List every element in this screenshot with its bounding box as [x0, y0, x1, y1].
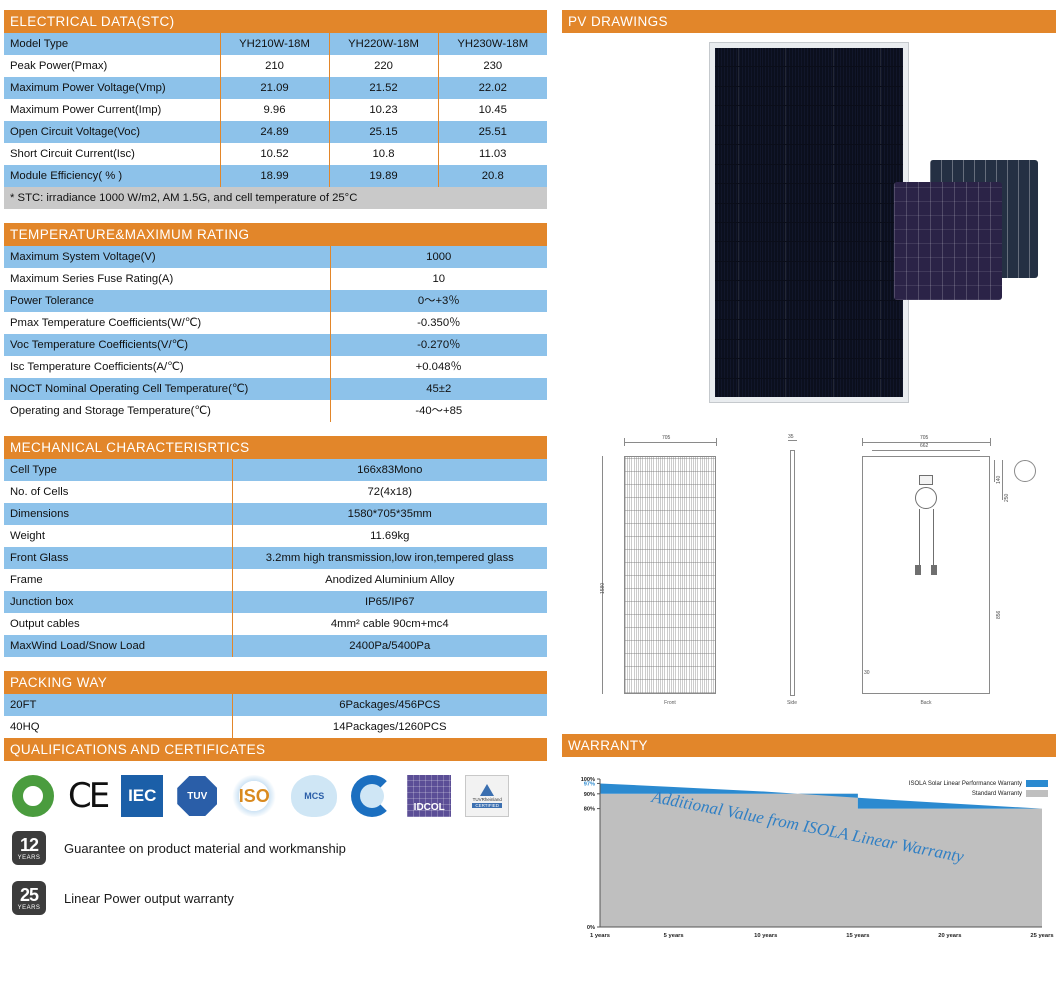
table-row: Maximum Power Current(Imp) 9.96 10.23 10…	[4, 99, 547, 121]
row-value: 21.52	[329, 77, 438, 99]
solar-cell	[810, 242, 856, 260]
row-value: 20.8	[438, 165, 547, 187]
row-value: 18.99	[220, 165, 329, 187]
solar-cell	[762, 223, 808, 241]
dim-thickness: 35	[788, 434, 794, 440]
solar-cell	[810, 262, 856, 280]
table-row: Output cables 4mm² cable 90cm+mc4	[4, 613, 547, 635]
row-label: Maximum Power Voltage(Vmp)	[4, 77, 220, 99]
table-row: 40HQ 14Packages/1260PCS	[4, 716, 547, 738]
row-value: 3.2mm high transmission,low iron,tempere…	[232, 547, 547, 569]
solar-cell	[762, 320, 808, 338]
dim-height: 1580	[600, 583, 606, 594]
solar-cell	[762, 106, 808, 124]
idcol-certificate-icon: IDCOL	[407, 775, 451, 817]
dim-front-width: 705	[662, 435, 670, 441]
solar-cell	[857, 67, 903, 85]
warranty-badge-row-25: 25 YEARS Linear Power output warranty	[4, 873, 547, 923]
solar-cell	[715, 223, 761, 241]
solar-cell	[857, 48, 903, 66]
solar-cell	[762, 262, 808, 280]
temperature-rating-table: Maximum System Voltage(V) 1000 Maximum S…	[4, 246, 547, 422]
solar-cell	[810, 126, 856, 144]
pv-drawings-header: PV DRAWINGS	[562, 10, 1056, 33]
svg-text:10 years: 10 years	[754, 933, 777, 939]
solar-cell	[857, 379, 903, 397]
row-label: Module Efficiency( % )	[4, 165, 220, 187]
iec-certificate-icon: IEC	[121, 775, 163, 817]
drawing-front-view	[624, 456, 716, 694]
row-value: 24.89	[220, 121, 329, 143]
solar-cell	[810, 204, 856, 222]
row-value: 25.51	[438, 121, 547, 143]
legend-label: Standard Warranty	[972, 791, 1022, 797]
row-value: 1580*705*35mm	[232, 503, 547, 525]
solar-cell	[715, 204, 761, 222]
warranty-header: WARRANTY	[562, 734, 1056, 757]
row-value: 4mm² cable 90cm+mc4	[232, 613, 547, 635]
row-value: 11.69kg	[232, 525, 547, 547]
row-value: 210	[220, 55, 329, 77]
legend-label: ISOLA Solar Linear Performance Warranty	[909, 781, 1022, 787]
table-row: Peak Power(Pmax) 210 220 230	[4, 55, 547, 77]
solar-cell	[715, 242, 761, 260]
packing-way-block: PACKING WAY 20FT 6Packages/456PCS 40HQ 1…	[4, 671, 547, 738]
solar-cell	[762, 184, 808, 202]
table-row: Short Circuit Current(Isc) 10.52 10.8 11…	[4, 143, 547, 165]
row-label: 40HQ	[4, 716, 232, 738]
column-header-model-2: YH220W-18M	[329, 33, 438, 55]
row-label: Operating and Storage Temperature(℃)	[4, 400, 330, 422]
datasheet-page: ELECTRICAL DATA(STC) Model Type YH210W-1…	[0, 0, 1060, 999]
solar-cell	[810, 67, 856, 85]
svg-text:20 years: 20 years	[938, 933, 961, 939]
svg-text:90%: 90%	[584, 792, 595, 798]
row-value: 10.23	[329, 99, 438, 121]
warranty-12-years-text: Guarantee on product material and workma…	[64, 841, 346, 856]
packing-way-table: 20FT 6Packages/456PCS 40HQ 14Packages/12…	[4, 694, 547, 738]
table-row: Weight 11.69kg	[4, 525, 547, 547]
row-value: 6Packages/456PCS	[232, 694, 547, 716]
row-value: 1000	[330, 246, 547, 268]
row-value: 10.45	[438, 99, 547, 121]
electrical-data-table: Model Type YH210W-18M YH220W-18M YH230W-…	[4, 33, 547, 187]
temperature-rating-header: TEMPERATURE&MAXIMUM RATING	[4, 223, 547, 246]
solar-cell	[715, 320, 761, 338]
badge-years: 25	[20, 886, 38, 904]
legend-swatch	[1026, 790, 1048, 797]
table-row: 20FT 6Packages/456PCS	[4, 694, 547, 716]
drawing-back-view	[862, 456, 990, 694]
solar-cell	[810, 48, 856, 66]
mechanical-characteristics-table: Cell Type 166x83Mono No. of Cells 72(4x1…	[4, 459, 547, 657]
panel-cell-grid	[715, 48, 903, 397]
drawing-junction-box	[919, 475, 933, 485]
iso-certificate-icon: ISO	[231, 775, 277, 817]
row-label: Open Circuit Voltage(Voc)	[4, 121, 220, 143]
solar-cell	[762, 301, 808, 319]
row-value: 10.8	[329, 143, 438, 165]
warranty-25-years-text: Linear Power output warranty	[64, 891, 234, 906]
warranty-badge-row-12: 12 YEARS Guarantee on product material a…	[4, 823, 547, 873]
solar-cell	[715, 281, 761, 299]
table-row: Cell Type 166x83Mono	[4, 459, 547, 481]
solar-cell	[715, 359, 761, 377]
table-row: Model Type YH210W-18M YH220W-18M YH230W-…	[4, 33, 547, 55]
row-label: Front Glass	[4, 547, 232, 569]
svg-text:80%: 80%	[584, 807, 595, 813]
solar-cell	[715, 184, 761, 202]
green-ring-certificate-icon	[12, 775, 54, 817]
column-header-model-type: Model Type	[4, 33, 220, 55]
column-header-model-3: YH230W-18M	[438, 33, 547, 55]
table-row: NOCT Nominal Operating Cell Temperature(…	[4, 378, 547, 400]
row-value: Anodized Aluminium Alloy	[232, 569, 547, 591]
solar-cell	[810, 359, 856, 377]
solar-cell	[715, 340, 761, 358]
solar-cell	[715, 87, 761, 105]
table-row: Power Tolerance 0～+3％	[4, 290, 547, 312]
solar-cell	[810, 301, 856, 319]
row-label: Cell Type	[4, 459, 232, 481]
solar-cell	[715, 301, 761, 319]
svg-text:5 years: 5 years	[664, 933, 684, 939]
drawing-side-label: Side	[774, 700, 810, 706]
solar-cell	[762, 67, 808, 85]
row-value: 25.15	[329, 121, 438, 143]
solar-cell	[715, 262, 761, 280]
solar-cell	[810, 165, 856, 183]
table-row: MaxWind Load/Snow Load 2400Pa/5400Pa	[4, 635, 547, 657]
table-row: No. of Cells 72(4x18)	[4, 481, 547, 503]
mechanical-characteristics-block: MECHANICAL CHARACTERISRTICS Cell Type 16…	[4, 436, 547, 657]
row-label: Dimensions	[4, 503, 232, 525]
drawing-back-label: Back	[862, 700, 990, 706]
drawing-side-view	[790, 450, 795, 696]
solar-cell	[715, 106, 761, 124]
solar-cell	[715, 48, 761, 66]
dim-inner-height: 856	[996, 611, 1002, 619]
table-row: Dimensions 1580*705*35mm	[4, 503, 547, 525]
row-label: Isc Temperature Coefficients(A/℃)	[4, 356, 330, 378]
pv-photo-area	[562, 42, 1056, 424]
row-value: 230	[438, 55, 547, 77]
row-label: Short Circuit Current(Isc)	[4, 143, 220, 165]
row-label: Junction box	[4, 591, 232, 613]
table-row: Isc Temperature Coefficients(A/℃) +0.048…	[4, 356, 547, 378]
solar-cell	[762, 359, 808, 377]
solar-cell	[857, 320, 903, 338]
badge-years: 12	[20, 836, 38, 854]
solar-cell	[857, 106, 903, 124]
row-value: 14Packages/1260PCS	[232, 716, 547, 738]
row-value: 21.09	[220, 77, 329, 99]
mcs-certificate-icon: MCS	[291, 775, 337, 817]
svg-text:0%: 0%	[587, 925, 595, 931]
row-value: 10	[330, 268, 547, 290]
solar-cell	[810, 340, 856, 358]
row-value: -40～+85	[330, 400, 547, 422]
row-value: 0～+3％	[330, 290, 547, 312]
table-row: Frame Anodized Aluminium Alloy	[4, 569, 547, 591]
solar-cell	[762, 48, 808, 66]
row-label: MaxWind Load/Snow Load	[4, 635, 232, 657]
dim-box-height: 250	[1004, 494, 1010, 502]
warranty-25-years-badge: 25 YEARS	[12, 881, 46, 915]
badge-unit: YEARS	[18, 855, 41, 861]
tuv-certificate-icon: TUV	[177, 776, 217, 816]
drawing-detail-circle	[1014, 460, 1036, 482]
solar-cell	[857, 87, 903, 105]
row-label: 20FT	[4, 694, 232, 716]
row-value: 19.89	[329, 165, 438, 187]
table-row: Operating and Storage Temperature(℃) -40…	[4, 400, 547, 422]
solar-cell	[810, 223, 856, 241]
certificates-row: CE IEC TUV ISO MCS IDCOL	[4, 761, 547, 823]
row-label: Maximum Series Fuse Rating(A)	[4, 268, 330, 290]
solar-cell	[810, 87, 856, 105]
table-row: Maximum Series Fuse Rating(A) 10	[4, 268, 547, 290]
solar-cell	[762, 126, 808, 144]
solar-cell	[810, 184, 856, 202]
solar-cell	[762, 379, 808, 397]
row-label: Pmax Temperature Coefficients(W/℃)	[4, 312, 330, 334]
solar-cell	[762, 242, 808, 260]
svg-text:25 years: 25 years	[1030, 933, 1053, 939]
solar-cell	[810, 320, 856, 338]
warranty-chart: 100%97%90%80%0%1 years5 years10 years15 …	[562, 763, 1056, 959]
warranty-12-years-badge: 12 YEARS	[12, 831, 46, 865]
row-value: +0.048％	[330, 356, 547, 378]
stc-note: * STC: irradiance 1000 W/m2, AM 1.5G, an…	[4, 187, 547, 209]
solar-cell	[762, 87, 808, 105]
solar-cell	[715, 379, 761, 397]
solar-cell	[810, 281, 856, 299]
electrical-data-header: ELECTRICAL DATA(STC)	[4, 10, 547, 33]
solar-cell	[810, 145, 856, 163]
svg-text:97%: 97%	[584, 781, 595, 787]
solar-cell	[857, 126, 903, 144]
solar-cell	[715, 145, 761, 163]
packing-way-header: PACKING WAY	[4, 671, 547, 694]
technical-drawing: 705 1580 Front 35 Side 705 662	[562, 434, 1056, 726]
row-label: Peak Power(Pmax)	[4, 55, 220, 77]
row-value: 2400Pa/5400Pa	[232, 635, 547, 657]
legend-item-standard: Standard Warranty	[909, 790, 1048, 797]
solar-cell	[810, 106, 856, 124]
solar-cell	[715, 67, 761, 85]
badge-unit: YEARS	[18, 905, 41, 911]
solar-cell	[715, 165, 761, 183]
solar-cell-closeup-photos	[894, 160, 1050, 310]
row-value: -0.270％	[330, 334, 547, 356]
tuv-rheinland-certificate-icon: TUVRheinland CERTIFIED	[465, 775, 509, 817]
row-label: NOCT Nominal Operating Cell Temperature(…	[4, 378, 330, 400]
row-label: Frame	[4, 569, 232, 591]
ce-certificate-icon: CE	[68, 776, 107, 816]
legend-item-isola: ISOLA Solar Linear Performance Warranty	[909, 780, 1048, 787]
table-row: Junction box IP65/IP67	[4, 591, 547, 613]
row-value: 72(4x18)	[232, 481, 547, 503]
svg-text:15 years: 15 years	[846, 933, 869, 939]
row-value: 22.02	[438, 77, 547, 99]
solar-cell-front-image	[894, 182, 1002, 300]
mechanical-characteristics-header: MECHANICAL CHARACTERISRTICS	[4, 436, 547, 459]
solar-cell	[762, 340, 808, 358]
dim-inner-width: 662	[920, 443, 928, 449]
panel-frame	[709, 42, 909, 403]
row-value: 166x83Mono	[232, 459, 547, 481]
row-value: 45±2	[330, 378, 547, 400]
solar-cell	[762, 165, 808, 183]
row-label: Maximum Power Current(Imp)	[4, 99, 220, 121]
row-label: Voc Temperature Coefficients(V/℃)	[4, 334, 330, 356]
table-row: Module Efficiency( % ) 18.99 19.89 20.8	[4, 165, 547, 187]
table-row: Open Circuit Voltage(Voc) 24.89 25.15 25…	[4, 121, 547, 143]
temperature-rating-block: TEMPERATURE&MAXIMUM RATING Maximum Syste…	[4, 223, 547, 422]
row-label: Maximum System Voltage(V)	[4, 246, 330, 268]
chart-legend: ISOLA Solar Linear Performance Warranty …	[909, 780, 1048, 800]
solar-cell	[762, 204, 808, 222]
solar-panel-photo	[709, 42, 909, 403]
table-row: Maximum Power Voltage(Vmp) 21.09 21.52 2…	[4, 77, 547, 99]
dim-bottom: 30	[864, 670, 870, 676]
dim-back-width: 705	[920, 435, 928, 441]
solar-cell	[715, 126, 761, 144]
solar-cell	[810, 379, 856, 397]
drawing-front-label: Front	[624, 700, 716, 706]
svg-text:1 years: 1 years	[590, 933, 610, 939]
row-label: Output cables	[4, 613, 232, 635]
row-label: Weight	[4, 525, 232, 547]
right-column: PV DRAWINGS 705 1580 Front	[562, 10, 1056, 959]
column-header-model-1: YH210W-18M	[220, 33, 329, 55]
row-value: IP65/IP67	[232, 591, 547, 613]
row-value: -0.350％	[330, 312, 547, 334]
row-value: 11.03	[438, 143, 547, 165]
table-row: Voc Temperature Coefficients(V/℃) -0.270…	[4, 334, 547, 356]
legend-swatch	[1026, 780, 1048, 787]
qualifications-block: QUALIFICATIONS AND CERTIFICATES CE IEC T…	[4, 738, 547, 923]
warranty-block: WARRANTY 100%97%90%80%0%1 years5 years10…	[562, 734, 1056, 959]
row-label: No. of Cells	[4, 481, 232, 503]
table-row: Maximum System Voltage(V) 1000	[4, 246, 547, 268]
qualifications-header: QUALIFICATIONS AND CERTIFICATES	[4, 738, 547, 761]
row-value: 220	[329, 55, 438, 77]
left-column: ELECTRICAL DATA(STC) Model Type YH210W-1…	[4, 10, 547, 923]
drawing-junction-circle	[915, 487, 937, 509]
row-value: 9.96	[220, 99, 329, 121]
solar-cell	[762, 281, 808, 299]
solar-cell	[857, 340, 903, 358]
table-row: Pmax Temperature Coefficients(W/℃) -0.35…	[4, 312, 547, 334]
electrical-data-block: ELECTRICAL DATA(STC) Model Type YH210W-1…	[4, 10, 547, 209]
table-row: Front Glass 3.2mm high transmission,low …	[4, 547, 547, 569]
row-label: Power Tolerance	[4, 290, 330, 312]
solar-cell	[857, 359, 903, 377]
g-mark-certificate-icon	[351, 775, 393, 817]
solar-cell	[762, 145, 808, 163]
row-value: 10.52	[220, 143, 329, 165]
